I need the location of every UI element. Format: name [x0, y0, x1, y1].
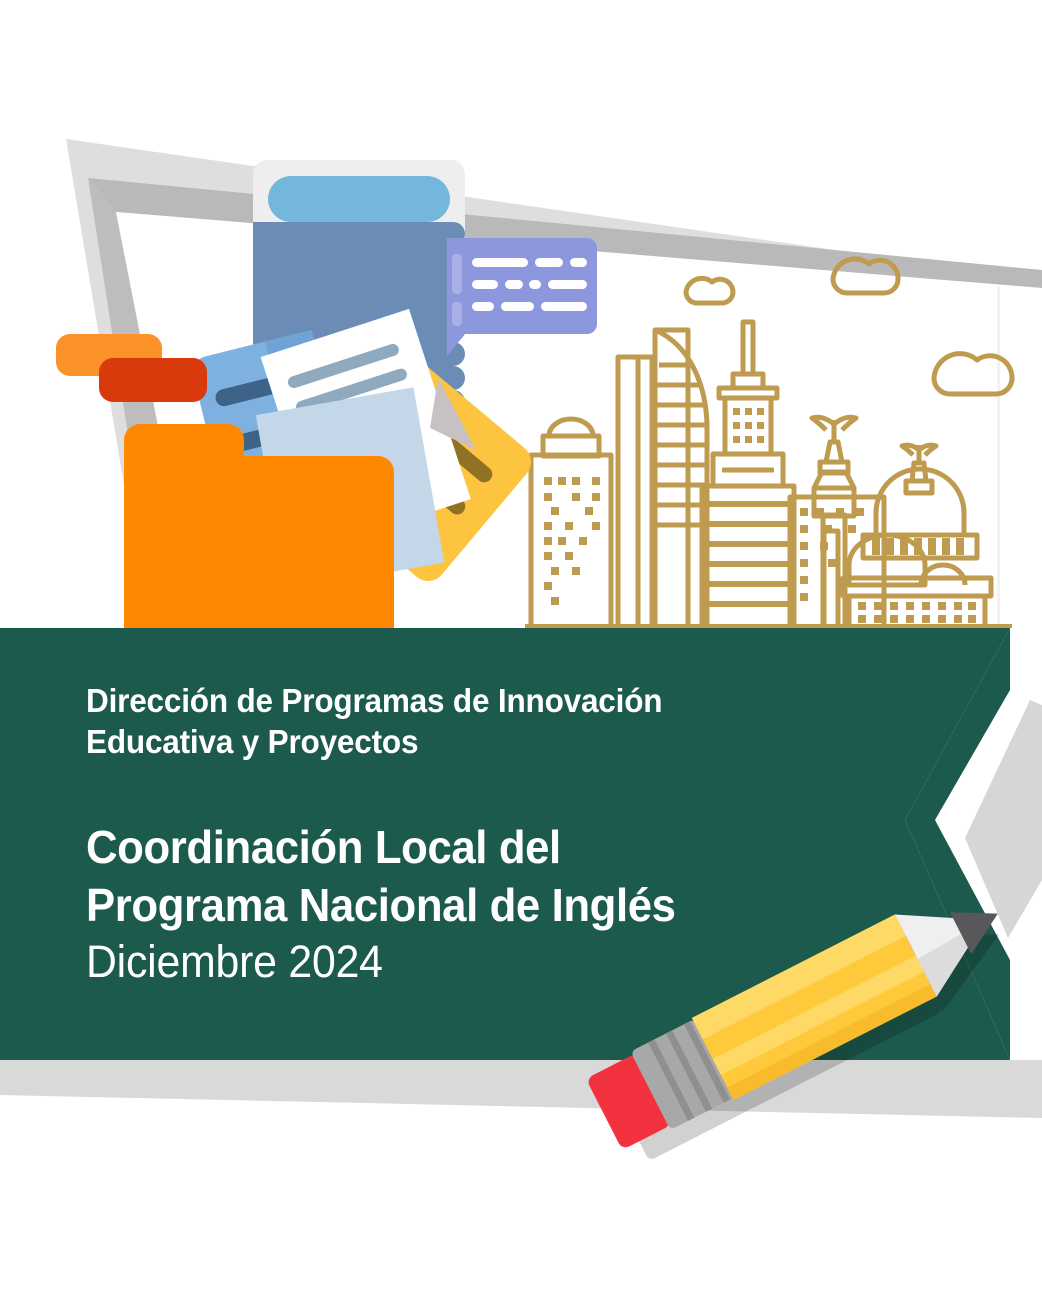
orange-folder [124, 424, 394, 638]
light-blue-bar [268, 176, 450, 222]
cover-page: Dirección de Programas de Innovación Edu… [0, 0, 1042, 1292]
top-scene [56, 139, 1042, 640]
paper-edge-line [997, 286, 1000, 636]
gray-bottom-band [0, 1060, 1042, 1118]
cover-illustration [0, 0, 1042, 1292]
red-tab [99, 358, 207, 402]
